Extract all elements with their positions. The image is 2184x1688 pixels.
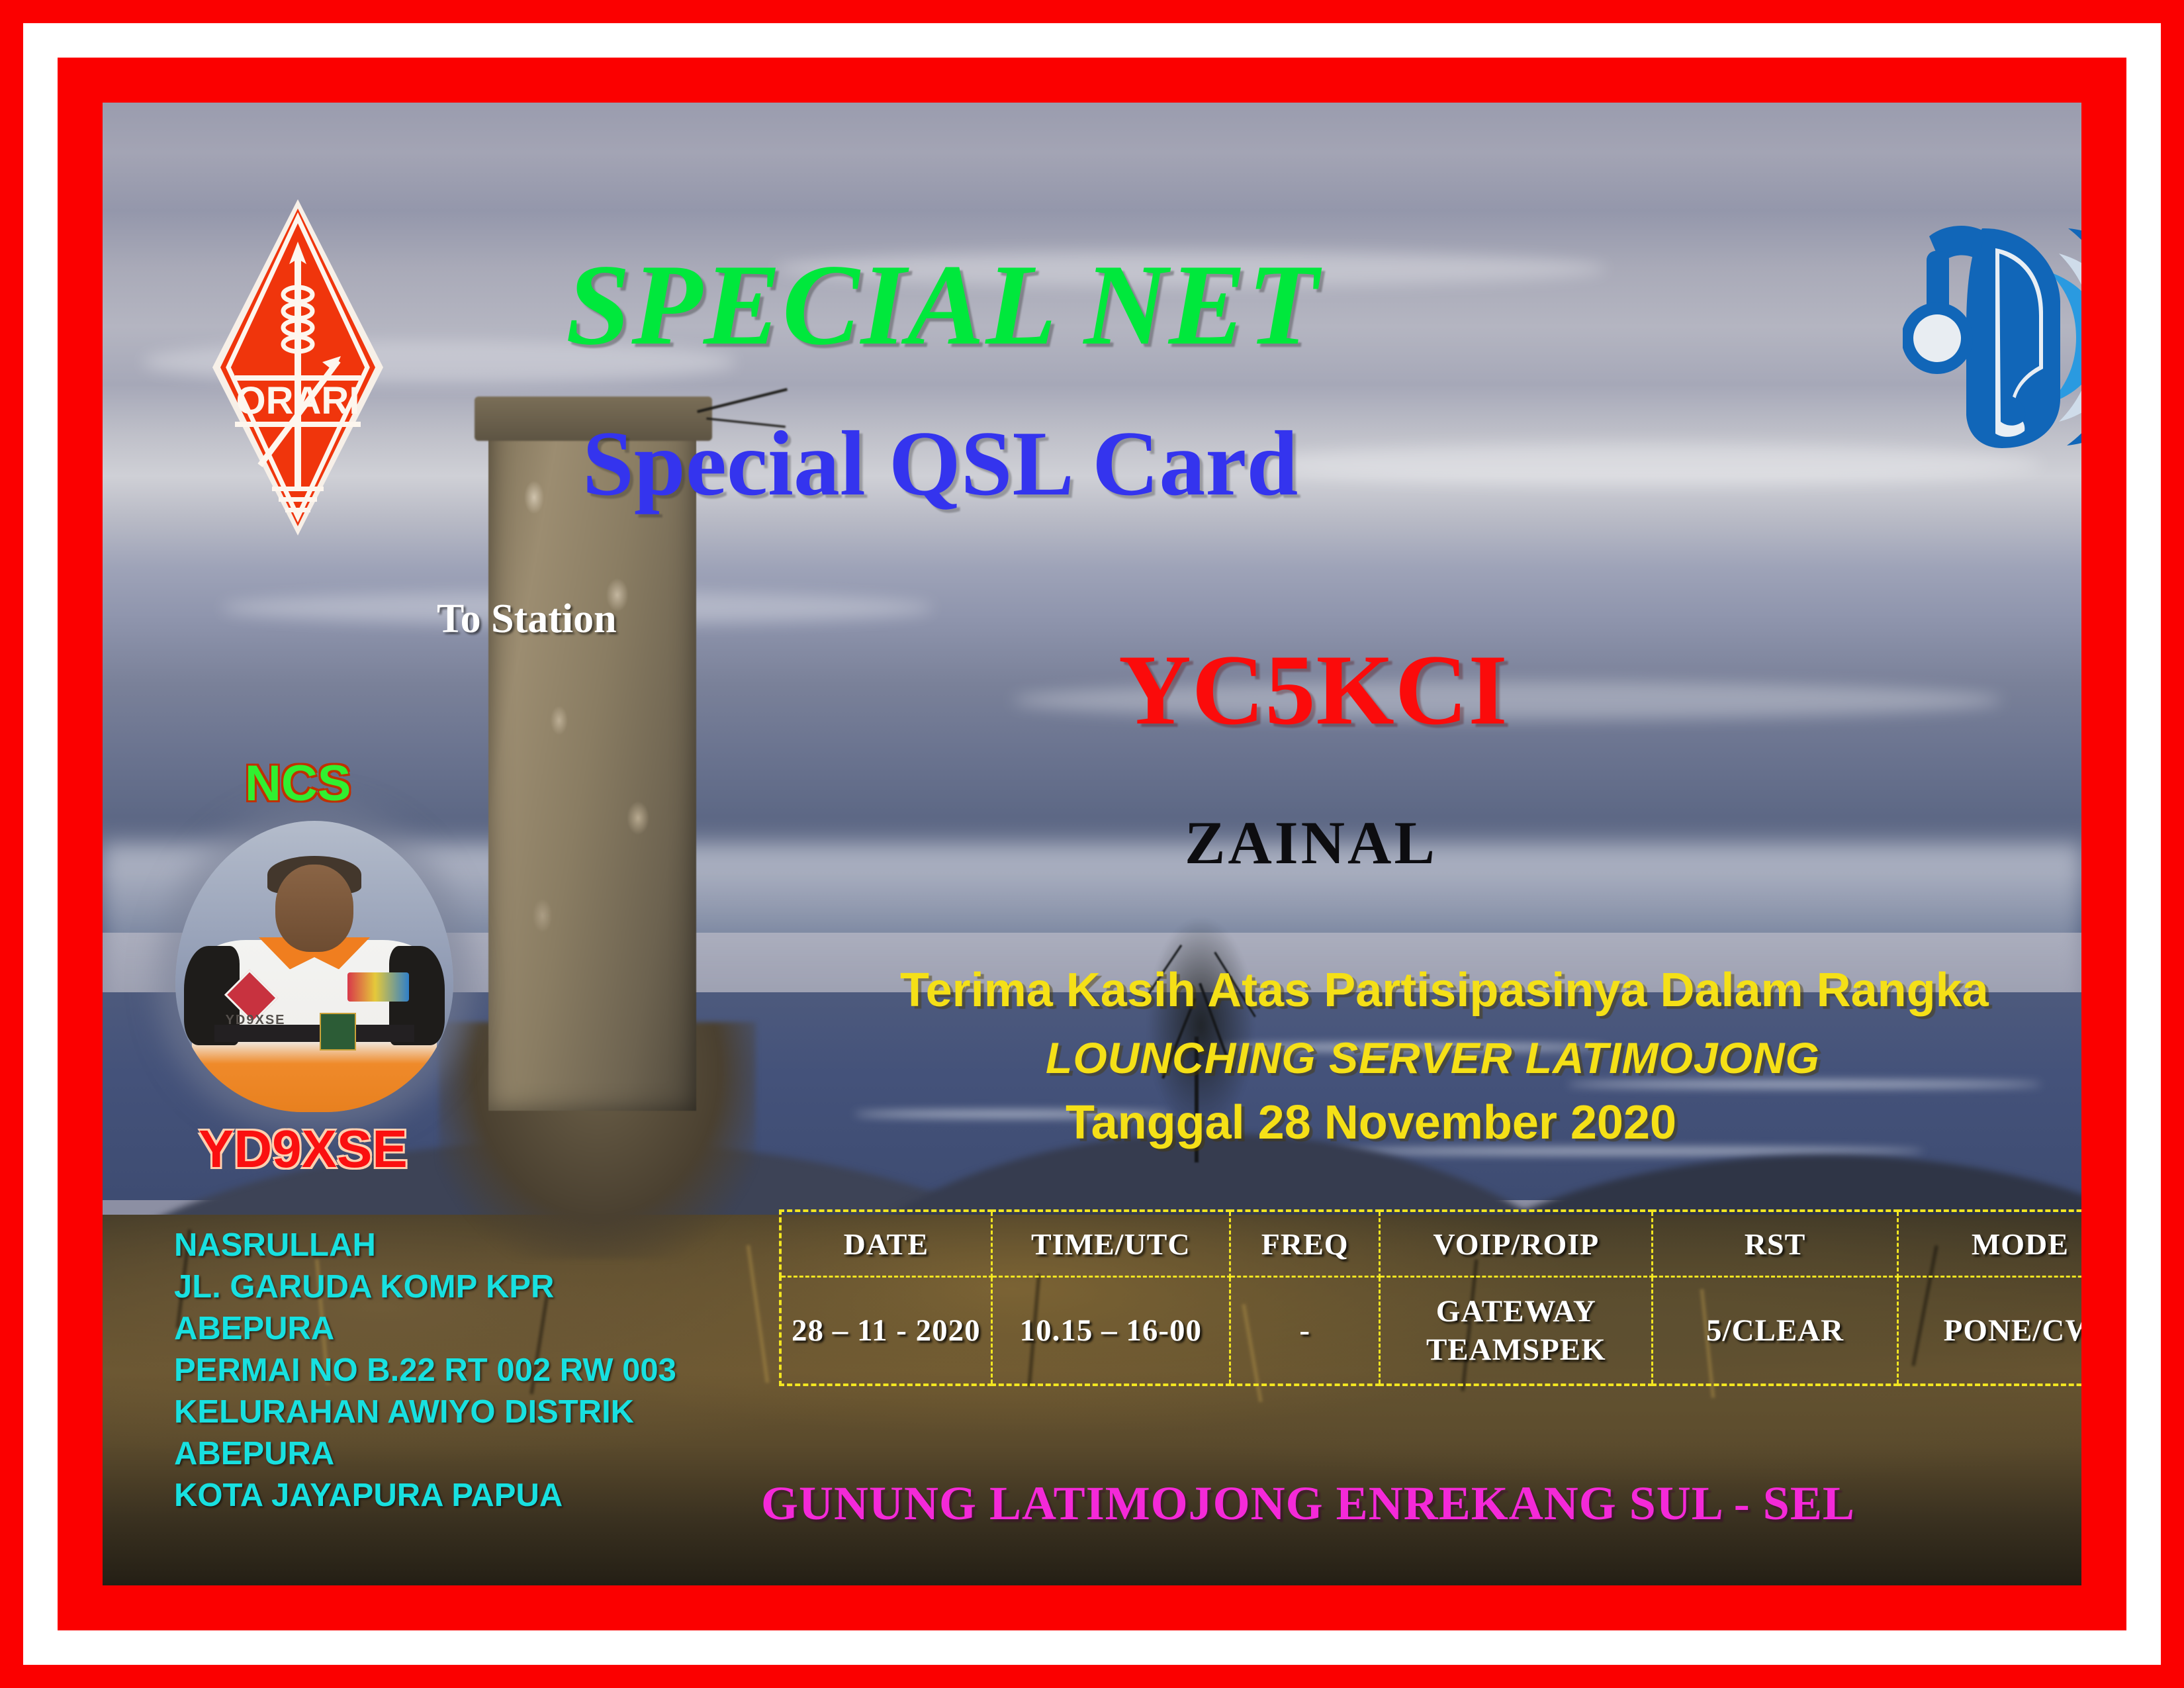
cell-freq: -: [1230, 1277, 1379, 1385]
cell-voip-line1: GATEWAY: [1381, 1292, 1651, 1331]
cell-time: 10.15 – 16-00: [991, 1277, 1230, 1385]
address-line: KELURAHAN AWIYO DISTRIK: [174, 1391, 676, 1433]
cell-mode: PONE/CW: [1897, 1277, 2081, 1385]
cell-rst: 5/CLEAR: [1653, 1277, 1898, 1385]
id-card: [320, 1013, 355, 1051]
mountain-location-text: GUNUNG LATIMOJONG ENREKANG SUL - SEL: [761, 1476, 1855, 1531]
sky-background: [103, 103, 2081, 933]
column-header-date: DATE: [780, 1211, 991, 1277]
address-line: JL. GARUDA KOMP KPR: [174, 1266, 676, 1308]
table-header-row: DATE TIME/UTC FREQ VOIP/ROIP RST MODE: [780, 1211, 2081, 1277]
to-station-label: To Station: [437, 596, 617, 643]
radio-head-wave-logo: [1903, 202, 2081, 467]
cell-voip-roip: GATEWAY TEAMSPEK: [1380, 1277, 1653, 1385]
ncs-label: NCS: [245, 755, 351, 812]
column-header-freq: FREQ: [1230, 1211, 1379, 1277]
address-line: KOTA JAYAPURA PAPUA: [174, 1475, 676, 1517]
qso-log-table: DATE TIME/UTC FREQ VOIP/ROIP RST MODE 28…: [779, 1209, 2081, 1386]
cell-date: 28 – 11 - 2020: [780, 1277, 991, 1385]
thanks-line-1: Terima Kasih Atas Partisipasinya Dalam R…: [900, 963, 1989, 1017]
address-block: NASRULLAH JL. GARUDA KOMP KPR ABEPURA PE…: [174, 1225, 676, 1517]
cell-voip-line2: TEAMSPEK: [1381, 1331, 1651, 1369]
orari-logo-text: ORARI: [236, 379, 360, 422]
column-header-mode: MODE: [1897, 1211, 2081, 1277]
operator-name: ZAINAL: [1185, 808, 1437, 878]
column-header-voip-roip: VOIP/ROIP: [1380, 1211, 1653, 1277]
address-line: NASRULLAH: [174, 1225, 676, 1266]
uniform-patch: [347, 972, 408, 1002]
address-line: PERMAI NO B.22 RT 002 RW 003: [174, 1350, 676, 1391]
operator-photo: YD9XSE: [175, 821, 453, 1112]
column-header-rst: RST: [1653, 1211, 1898, 1277]
thanks-line-3: Tanggal 28 November 2020: [1066, 1096, 1676, 1150]
uniform-callsign-text: YD9XSE: [226, 1013, 286, 1028]
operator-face: [275, 865, 353, 952]
address-line: ABEPURA: [174, 1308, 676, 1350]
orari-diamond-logo: ORARI: [208, 195, 387, 539]
page-subtitle-special-qsl: Special QSL Card: [582, 410, 1298, 517]
ncs-callsign: YD9XSE: [199, 1119, 408, 1180]
station-callsign: YC5KCI: [1118, 632, 1508, 747]
page-title-special-net: SPECIAL NET: [566, 238, 1320, 371]
stone-pillar: [488, 414, 696, 1111]
card-background-photo: ORARI: [103, 103, 2081, 1585]
thanks-line-2: LOUNCHING SERVER LATIMOJONG: [1046, 1033, 1820, 1083]
frame-white-gap: ORARI: [23, 23, 2161, 1665]
address-line: ABEPURA: [174, 1433, 676, 1475]
table-row: 28 – 11 - 2020 10.15 – 16-00 - GATEWAY T…: [780, 1277, 2081, 1385]
qsl-card-frame: ORARI: [0, 0, 2184, 1688]
column-header-time: TIME/UTC: [991, 1211, 1230, 1277]
frame-inner-red: ORARI: [58, 58, 2126, 1630]
